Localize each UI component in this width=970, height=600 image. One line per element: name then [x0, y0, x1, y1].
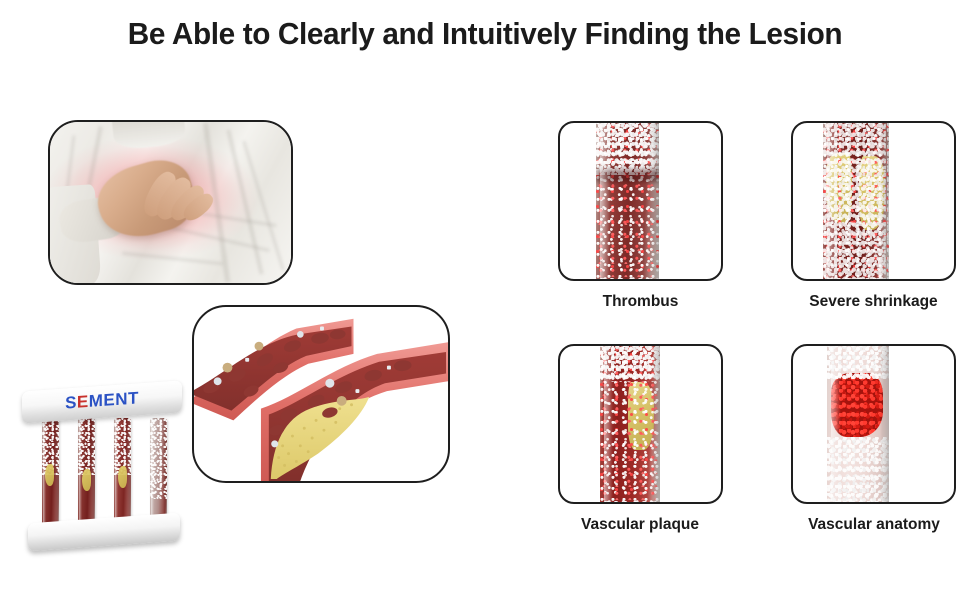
tube-plaque	[82, 469, 91, 491]
stand-tube	[150, 418, 167, 528]
stand-tube	[78, 418, 95, 528]
page-title: Be Able to Clearly and Intuitively Findi…	[19, 16, 950, 52]
logo-letters-ment: MENT	[89, 388, 139, 412]
blood-vessel-cross-section-illustration	[192, 305, 450, 483]
specimen-display-stand: SEMENT	[14, 378, 190, 556]
chest-pain-photo	[48, 120, 293, 285]
tube-silver-band	[827, 344, 889, 379]
tube-plaque	[45, 464, 54, 486]
poster-root: Be Able to Clearly and Intuitively Findi…	[0, 0, 970, 600]
specimen-panel-vascular-anatomy	[791, 344, 956, 504]
tube-speckle	[78, 418, 95, 475]
caption-vascular-anatomy: Vascular anatomy	[785, 516, 963, 534]
specimen-panel-severe-shrinkage	[791, 121, 956, 281]
vascular-plaque-tube	[600, 344, 660, 504]
tube-silver-band	[596, 121, 659, 175]
caption-thrombus: Thrombus	[558, 293, 723, 311]
tube-silver-band	[827, 437, 889, 504]
vessel-diagram-svg	[194, 307, 448, 481]
stand-tube	[114, 418, 131, 528]
thrombus-mass	[596, 169, 659, 182]
severe-shrinkage-tube	[823, 121, 889, 281]
logo-letter-s: S	[65, 392, 77, 413]
logo-letter-e-accent: E	[77, 391, 89, 412]
tube-speckle	[150, 418, 167, 499]
stand-tube	[42, 418, 59, 528]
specimen-panel-thrombus	[558, 121, 723, 281]
specimen-panel-vascular-plaque	[558, 344, 723, 504]
caption-vascular-plaque: Vascular plaque	[545, 516, 735, 534]
caption-severe-shrinkage: Severe shrinkage	[791, 293, 956, 311]
tube-plaque	[118, 466, 127, 488]
vascular-anatomy-tube	[827, 344, 889, 504]
thrombus-tube	[596, 121, 659, 281]
tube-silver-band	[823, 121, 889, 281]
red-clot-mass	[831, 373, 883, 437]
tube-silver-band	[600, 344, 660, 382]
